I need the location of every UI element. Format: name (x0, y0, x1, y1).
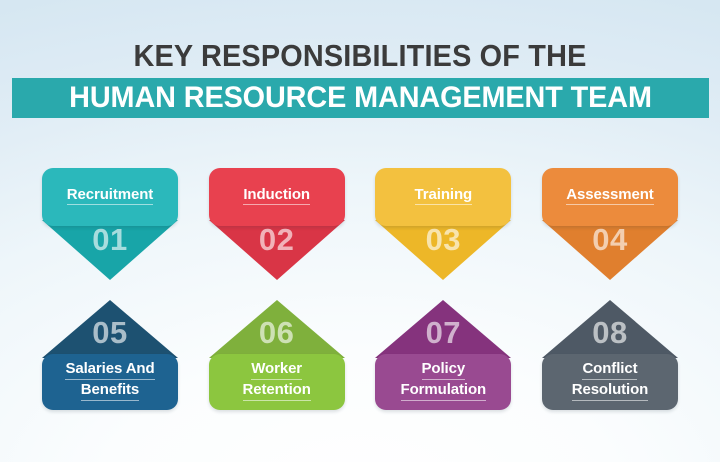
card-label-01: Recruitment (61, 187, 159, 206)
card-number-03: 03 (375, 224, 511, 255)
card-label-line: Salaries And (65, 361, 154, 380)
card-head-06: WorkerRetention (209, 354, 345, 410)
card-label-line: Resolution (572, 382, 649, 401)
card-number-04: 04 (542, 224, 678, 255)
card-head-05: Salaries AndBenefits (42, 354, 178, 410)
card-number-08: 08 (542, 317, 678, 348)
title-line-1: KEY RESPONSIBILITIES OF THE (25, 0, 695, 71)
card-label-05: Salaries AndBenefits (59, 361, 160, 401)
card-label-line: Retention (243, 382, 311, 401)
card-number-01: 01 (42, 224, 178, 255)
heading-block: KEY RESPONSIBILITIES OF THE HUMAN RESOUR… (0, 0, 720, 71)
card-number-05: 05 (42, 317, 178, 348)
card-number-07: 07 (375, 317, 511, 348)
card-label-line: Formulation (401, 382, 487, 401)
infographic-poster: KEY RESPONSIBILITIES OF THE HUMAN RESOUR… (0, 0, 720, 462)
card-row-top: Recruitment 01 Induction 02 Training 03 … (42, 168, 678, 280)
card-head-07: PolicyFormulation (375, 354, 511, 410)
title-line-2: HUMAN RESOURCE MANAGEMENT TEAM (69, 83, 652, 113)
card-label-line: Assessment (566, 187, 653, 206)
card-number-02: 02 (209, 224, 345, 255)
card-label-07: PolicyFormulation (395, 361, 493, 401)
card-06[interactable]: WorkerRetention 06 (209, 300, 345, 412)
card-05[interactable]: Salaries AndBenefits 05 (42, 300, 178, 412)
card-label-03: Training (409, 187, 479, 206)
card-number-06: 06 (209, 317, 345, 348)
card-head-02: Induction (209, 168, 345, 226)
card-label-04: Assessment (560, 187, 659, 206)
card-label-line: Policy (422, 361, 466, 380)
card-row-bottom: Salaries AndBenefits 05 WorkerRetention … (42, 300, 678, 412)
card-label-line: Recruitment (67, 187, 153, 206)
card-02[interactable]: Induction 02 (209, 168, 345, 280)
card-head-01: Recruitment (42, 168, 178, 226)
card-04[interactable]: Assessment 04 (542, 168, 678, 280)
card-08[interactable]: ConflictResolution 08 (542, 300, 678, 412)
card-label-02: Induction (237, 187, 316, 206)
card-head-08: ConflictResolution (542, 354, 678, 410)
card-label-line: Induction (243, 187, 310, 206)
title-band: HUMAN RESOURCE MANAGEMENT TEAM (12, 78, 709, 118)
card-head-03: Training (375, 168, 511, 226)
card-07[interactable]: PolicyFormulation 07 (375, 300, 511, 412)
card-head-04: Assessment (542, 168, 678, 226)
card-label-06: WorkerRetention (237, 361, 317, 401)
card-label-line: Conflict (582, 361, 637, 380)
card-03[interactable]: Training 03 (375, 168, 511, 280)
card-label-line: Training (415, 187, 473, 206)
card-label-line: Worker (251, 361, 302, 380)
card-label-08: ConflictResolution (566, 361, 655, 401)
card-01[interactable]: Recruitment 01 (42, 168, 178, 280)
card-label-line: Benefits (81, 382, 139, 401)
